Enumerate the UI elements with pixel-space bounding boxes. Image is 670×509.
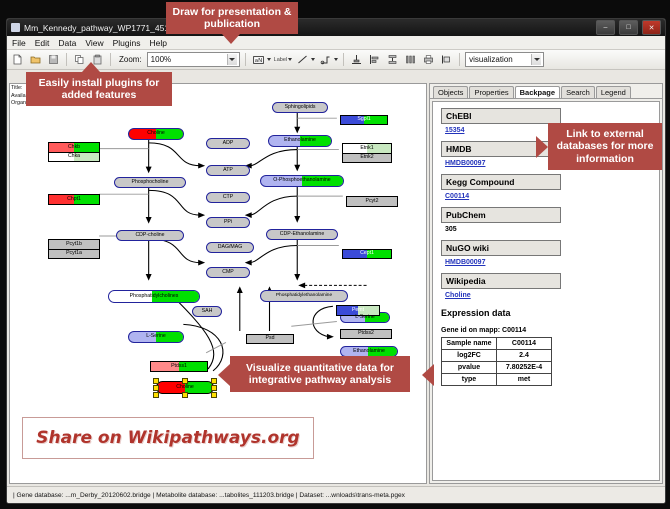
close-button[interactable]: ✕ <box>642 20 661 35</box>
datanode-tool[interactable]: aN <box>251 52 271 67</box>
receptor-icon[interactable] <box>318 52 333 67</box>
datanode-icon[interactable]: aN <box>251 52 266 67</box>
maximize-button[interactable]: □ <box>619 20 638 35</box>
callout-draw-pointer <box>222 34 240 44</box>
node-cdp-choline[interactable]: CDP-choline <box>116 230 184 241</box>
svg-text:aN: aN <box>254 58 262 64</box>
node-gene-cept1[interactable]: Cept1 <box>342 249 392 259</box>
label-tool-text: Label <box>274 57 287 63</box>
table-row: pvalue 7.80252E-4 <box>442 362 552 374</box>
node-cdp-ethanolamine[interactable]: CDP-Ethanolamine <box>266 229 338 240</box>
node-gene-sgpl1[interactable]: Sgpl1 <box>340 115 388 125</box>
statusbar-text: | Gene database: ...m_Derby_20120602.bri… <box>7 492 405 499</box>
callout-links: Link to external databases for more info… <box>548 123 662 170</box>
selection-handle-n[interactable] <box>182 378 188 384</box>
order-icon[interactable] <box>439 52 454 67</box>
node-adp[interactable]: ADP <box>206 138 250 149</box>
save-icon[interactable] <box>46 52 61 67</box>
visualization-combobox[interactable]: visualization <box>465 52 544 67</box>
node-gene-pcyt2[interactable]: Pcyt2 <box>346 196 398 207</box>
node-atp[interactable]: ATP <box>206 165 250 176</box>
gene-id-on-mapp: Gene id on mapp: C00114 <box>441 327 659 334</box>
visualization-value: visualization <box>469 55 513 64</box>
db-link-kegg-compound[interactable]: C00114 <box>445 193 659 200</box>
cell-key-log2fc: log2FC <box>442 350 497 362</box>
callout-viz-pointer-right <box>422 364 434 386</box>
cell-key-type: type <box>442 374 497 386</box>
callout-viz: Visualize quantitative data for integrat… <box>230 356 410 392</box>
table-row: type met <box>442 374 552 386</box>
cell-value-pvalue: 7.80252E-4 <box>497 362 552 374</box>
table-row: log2FC 2.4 <box>442 350 552 362</box>
open-folder-icon[interactable] <box>28 52 43 67</box>
node-gene-chkb[interactable]: Chkb <box>48 142 100 152</box>
node-l-serine-left[interactable]: L-Serine <box>128 331 184 343</box>
selection-handle-e[interactable] <box>211 385 217 391</box>
tab-legend[interactable]: Legend <box>596 86 631 98</box>
callout-plugins-pointer <box>82 62 100 72</box>
menu-help[interactable]: Help <box>150 38 167 48</box>
expression-table: Sample name C00114 log2FC 2.4 pvalue 7.8… <box>441 337 552 386</box>
align-left-icon[interactable] <box>367 52 382 67</box>
callout-share: Share on Wikipathways.org <box>22 417 314 459</box>
callout-share-text: Share on Wikipathways.org <box>36 428 299 448</box>
db-header-pubchem: PubChem <box>441 207 561 223</box>
statusbar: | Gene database: ...m_Derby_20120602.bri… <box>7 486 665 503</box>
node-phosphatidylethanolamine[interactable]: Phosphatidylethanolamine <box>260 290 348 302</box>
print-icon[interactable] <box>421 52 436 67</box>
label-tool[interactable]: Label <box>274 57 292 63</box>
db-link-wikipedia[interactable]: Choline <box>445 292 659 299</box>
cell-value-log2fc: 2.4 <box>497 350 552 362</box>
line-icon[interactable] <box>295 52 310 67</box>
expression-data-title: Expression data <box>441 308 659 318</box>
toolbar: Zoom: 100% aN Label <box>7 50 665 70</box>
db-header-wikipedia: Wikipedia <box>441 273 561 289</box>
node-o-phosphoethanolamine[interactable]: O-Phosphoethanolamine <box>260 175 344 187</box>
selection-handle-sw[interactable] <box>153 392 159 398</box>
node-gene-etnk1[interactable]: Etnk1 <box>342 143 392 153</box>
line-tool[interactable] <box>295 52 315 67</box>
node-sphingolipids[interactable]: Sphingolipids <box>272 102 328 113</box>
tab-properties[interactable]: Properties <box>469 86 513 98</box>
stack-vertical-icon[interactable] <box>385 52 400 67</box>
chevron-down-icon[interactable] <box>227 54 237 65</box>
callout-draw: Draw for presentation & publication <box>166 2 298 34</box>
side-panel-tabs: Objects Properties Backpage Search Legen… <box>430 84 662 99</box>
cell-key-sample-name: Sample name <box>442 338 497 350</box>
menu-plugins[interactable]: Plugins <box>113 38 141 48</box>
callout-viz-pointer <box>218 364 230 386</box>
db-header-nugo-wiki: NuGO wiki <box>441 240 561 256</box>
visualization-chevron-down-icon[interactable] <box>531 54 541 65</box>
cell-value-sample-name: C00114 <box>497 338 552 350</box>
node-gene-psd[interactable]: Psd <box>246 334 294 344</box>
receptor-tool[interactable] <box>318 52 338 67</box>
node-phosphocholine[interactable]: Phosphocholine <box>114 177 186 188</box>
menu-file[interactable]: File <box>12 38 26 48</box>
node-gene-chka[interactable]: Chka <box>48 152 100 162</box>
tab-objects[interactable]: Objects <box>433 86 468 98</box>
db-header-chebi: ChEBI <box>441 108 561 124</box>
node-gene-ptdss1[interactable]: Ptdss1 <box>150 361 208 372</box>
canvas-info-availability: Availa <box>11 93 27 101</box>
cell-value-type: met <box>497 374 552 386</box>
node-gene-pcyt1b[interactable]: Pcyt1b <box>48 239 100 249</box>
zoom-label: Zoom: <box>119 55 142 64</box>
selection-handle-ne[interactable] <box>211 378 217 384</box>
selection-handle-w[interactable] <box>153 385 159 391</box>
node-gene-etnk2[interactable]: Etnk2 <box>342 153 392 163</box>
selection-handle-s[interactable] <box>182 392 188 398</box>
node-gene-ptdss2[interactable]: Ptdss2 <box>340 329 392 339</box>
callout-plugins: Easily install plugins for added feature… <box>26 72 172 106</box>
menu-edit[interactable]: Edit <box>35 38 50 48</box>
node-sah[interactable]: SAH <box>192 306 222 317</box>
db-link-nugo-wiki[interactable]: HMDB00097 <box>445 259 659 266</box>
node-dag-mag[interactable]: DAG/MAG <box>206 242 254 253</box>
node-phosphatidylcholines[interactable]: Phosphatidylcholines <box>108 290 200 303</box>
callout-links-pointer <box>536 136 548 158</box>
node-cmp[interactable]: CMP <box>206 267 250 278</box>
db-header-kegg-compound: Kegg Compound <box>441 174 561 190</box>
distribute-icon[interactable] <box>403 52 418 67</box>
screenshot-root: Mm_Kennedy_pathway_WP1771_45176.gpml - P… <box>0 0 670 509</box>
selection-handle-se[interactable] <box>211 392 217 398</box>
tab-search[interactable]: Search <box>561 86 595 98</box>
node-gene-pcyt1a[interactable]: Pcyt1a <box>48 249 100 259</box>
window-titlebar: Mm_Kennedy_pathway_WP1771_45176.gpml - P… <box>7 19 665 36</box>
minimize-button[interactable]: – <box>596 20 615 35</box>
menu-data[interactable]: Data <box>58 38 76 48</box>
cell-key-pvalue: pvalue <box>442 362 497 374</box>
app-icon <box>11 23 20 32</box>
menubar: File Edit Data View Plugins Help <box>7 36 665 50</box>
zoom-combobox[interactable]: 100% <box>147 52 240 67</box>
tab-backpage[interactable]: Backpage <box>515 86 560 98</box>
selection-handle-nw[interactable] <box>153 378 159 384</box>
node-gene-chpt1[interactable]: Chpt1 <box>48 194 100 205</box>
db-value-pubchem: 305 <box>445 226 659 233</box>
node-ctp[interactable]: CTP <box>206 192 250 203</box>
new-file-icon[interactable] <box>10 52 25 67</box>
node-ppi[interactable]: PPi <box>206 217 250 228</box>
canvas-info-organism: Organi <box>11 100 27 108</box>
zoom-value: 100% <box>151 55 171 64</box>
node-choline-top[interactable]: Choline <box>128 128 184 140</box>
align-bottom-icon[interactable] <box>349 52 364 67</box>
node-ethanolamine[interactable]: Ethanolamine <box>268 135 332 147</box>
table-row: Sample name C00114 <box>442 338 552 350</box>
canvas-info-title: Title: <box>11 85 27 93</box>
menu-view[interactable]: View <box>85 38 103 48</box>
canvas-info-block: Title: Availa Organi <box>11 85 27 108</box>
